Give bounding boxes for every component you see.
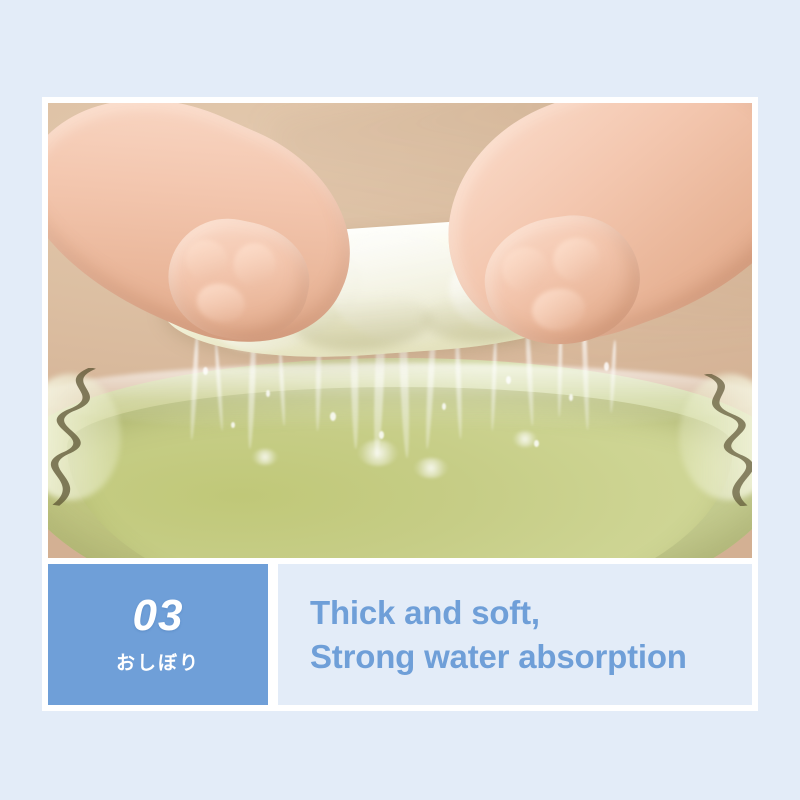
right-knuckle-b: [550, 234, 602, 283]
headline-line-2: Strong water absorption: [310, 635, 687, 679]
step-subtitle-japanese: おしぼり: [116, 648, 200, 675]
headline-panel: Thick and soft, Strong water absorption: [278, 564, 752, 705]
basin-left-seam-icon: [48, 368, 121, 505]
product-photo: [48, 103, 752, 558]
left-knuckle-c: [193, 280, 248, 327]
headline-line-1: Thick and soft,: [310, 594, 540, 631]
basin-right-seam-icon: [679, 374, 752, 506]
right-knuckle-c: [529, 285, 587, 333]
right-knuckle-a: [498, 244, 550, 293]
left-knuckle-b: [229, 239, 279, 289]
caption-bar: 03 おしぼり Thick and soft, Strong water abs…: [48, 564, 752, 705]
product-feature-card: 03 おしぼり Thick and soft, Strong water abs…: [42, 97, 758, 711]
feature-headline: Thick and soft, Strong water absorption: [310, 591, 687, 678]
left-knuckle-a: [182, 236, 232, 284]
step-number: 03: [133, 594, 184, 638]
step-badge: 03 おしぼり: [48, 564, 268, 705]
